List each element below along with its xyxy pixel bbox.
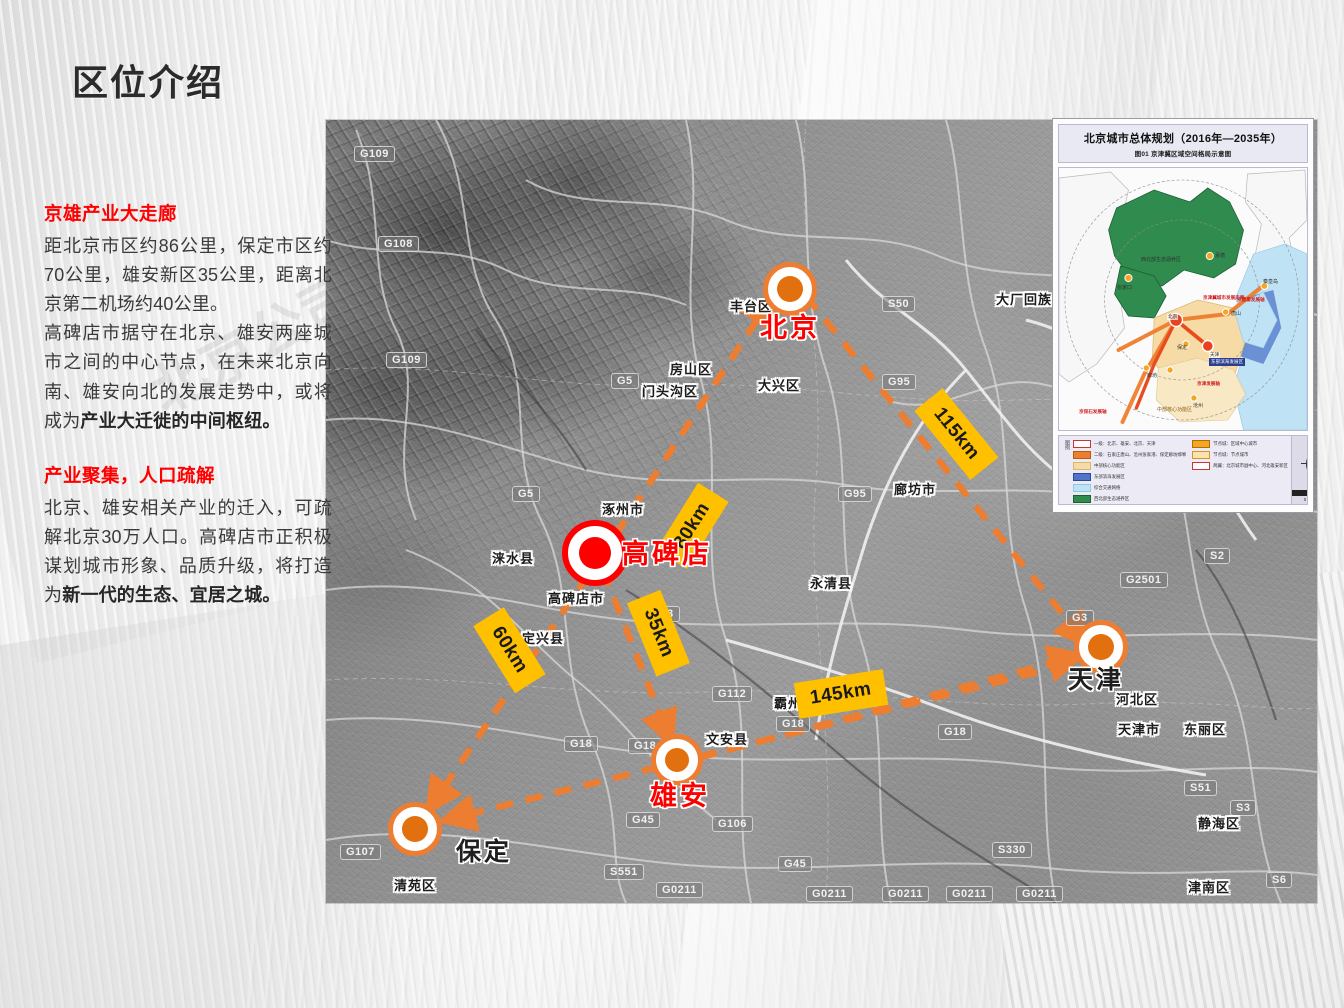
inset-planning-map[interactable]: 北京城市总体规划（2016年—2035年） 图01 京津冀区域空间格局示意图 bbox=[1052, 118, 1314, 513]
route-gaobeidian-baoding bbox=[430, 575, 588, 808]
place-label: 涿州市涿州市 bbox=[602, 496, 644, 515]
inset-city-label: 北京 bbox=[1167, 314, 1178, 320]
legend-row: 两翼：北京城市副中心、河北雄安新区 bbox=[1192, 462, 1288, 470]
inset-legend-items: 图例 一级：北京、雄安、北京、天津 二级：石家庄唐山、沧州张家港、保定廊坊邯郸 … bbox=[1059, 436, 1291, 504]
inset-city-label: 沧州 bbox=[1193, 402, 1203, 409]
inset-corridor-label: 京保石发展轴 bbox=[1077, 408, 1109, 416]
inset-city-label: 天津 bbox=[1209, 352, 1220, 358]
road-shield: G18 bbox=[776, 716, 810, 732]
legend-swatch bbox=[1073, 440, 1091, 448]
paragraph-emphasis: 产业大迁徙的中间枢纽。 bbox=[80, 411, 280, 431]
legend-swatch bbox=[1073, 484, 1091, 492]
legend-row: 一级：北京、雄安、北京、天津 bbox=[1073, 440, 1186, 448]
legend-text: 中部核心功能区 bbox=[1094, 463, 1125, 469]
description-section-industry: 产业聚集，人口疏解 北京、雄安相关产业的迁入，可疏解北京30万人口。高碑店市正积… bbox=[44, 462, 332, 610]
road-shield: G0211 bbox=[1016, 886, 1063, 902]
road-shield: G0211 bbox=[806, 886, 853, 902]
inset-map-body: 西北部生态涵养区 东部滨海发展区 中部核心功能区 北京 天津 承德 张家口 唐山… bbox=[1058, 167, 1308, 431]
section-heading-corridor: 京雄产业大走廊 bbox=[44, 200, 332, 228]
place-label: 廊坊市廊坊市 bbox=[894, 476, 936, 495]
legend-swatch bbox=[1073, 462, 1091, 470]
city-name-gaobeidian: 高碑店 bbox=[622, 532, 712, 571]
place-label: 涞水县涞水县 bbox=[492, 545, 534, 564]
city-name-beijing: 北京 bbox=[760, 306, 820, 345]
place-label: 永清县永清县 bbox=[810, 570, 852, 589]
road-shield: S330 bbox=[992, 842, 1032, 858]
legend-swatch bbox=[1192, 451, 1210, 459]
road-shield: G0211 bbox=[946, 886, 993, 902]
place-label: 门头沟区门头沟区 bbox=[642, 378, 698, 397]
legend-row: 节点城：节点城市 bbox=[1192, 451, 1288, 459]
compass-icon bbox=[1306, 448, 1308, 480]
road-shield: S2 bbox=[1204, 548, 1230, 564]
legend-text: 综合交通网络 bbox=[1094, 485, 1120, 491]
legend-swatch bbox=[1192, 440, 1210, 448]
inset-city-label: 唐山 bbox=[1231, 310, 1241, 317]
city-name-tianjin: 天津 bbox=[1068, 660, 1124, 696]
place-label: 清苑区清苑区 bbox=[394, 872, 436, 891]
inset-legend-title: 图例 bbox=[1062, 440, 1073, 500]
place-label: 定兴县定兴县 bbox=[522, 625, 564, 644]
legend-text: 二级：石家庄唐山、沧州张家港、保定廊坊邯郸 bbox=[1094, 452, 1186, 458]
road-shield: G18 bbox=[938, 724, 972, 740]
marker-dot bbox=[579, 537, 611, 569]
inset-legend: 图例 一级：北京、雄安、北京、天津 二级：石家庄唐山、沧州张家港、保定廊坊邯郸 … bbox=[1058, 435, 1308, 505]
inset-compass-scale: 北 比例尺 0 20 40 80 120公里 bbox=[1291, 436, 1308, 504]
marker-dot bbox=[402, 816, 428, 842]
scale-bar-group: 比例尺 0 20 40 80 120公里 bbox=[1292, 483, 1308, 503]
legend-row: 西北部生态涵养区 bbox=[1073, 495, 1186, 503]
legend-text: 西北部生态涵养区 bbox=[1094, 496, 1129, 502]
marker-gaobeidian[interactable] bbox=[562, 520, 628, 586]
legend-swatch bbox=[1073, 495, 1091, 503]
road-shield: G0211 bbox=[656, 882, 703, 898]
legend-row: 综合交通网络 bbox=[1073, 484, 1186, 492]
place-label: 大厂回族大厂回族 bbox=[996, 286, 1052, 305]
legend-row: 中部核心功能区 bbox=[1073, 462, 1186, 470]
legend-text: 两翼：北京城市副中心、河北雄安新区 bbox=[1213, 463, 1288, 469]
marker-baoding[interactable] bbox=[388, 802, 442, 856]
place-label: 东丽区东丽区 bbox=[1184, 716, 1226, 735]
legend-text: 节点城：区域中心城市 bbox=[1213, 441, 1257, 447]
description-column: 京雄产业大走廊 距北京市区约86公里，保定市区约70公里，雄安新区35公里，距离… bbox=[44, 200, 332, 636]
section-paragraph-main: 高碑店市据守在北京、雄安两座城市之间的中心节点，在未来北京向南、雄安向北的发展走… bbox=[44, 319, 332, 436]
road-shield: G109 bbox=[354, 146, 395, 162]
legend-text: 东部滨海发展区 bbox=[1094, 474, 1125, 480]
legend-text: 一级：北京、雄安、北京、天津 bbox=[1094, 441, 1155, 447]
description-section-corridor: 京雄产业大走廊 距北京市区约86公里，保定市区约70公里，雄安新区35公里，距离… bbox=[44, 200, 332, 436]
scale-bar bbox=[1292, 490, 1308, 496]
road-shield: G45 bbox=[778, 856, 812, 872]
road-shield: G5 bbox=[611, 373, 639, 389]
inset-corridor-label: 京唐秦发展轴 bbox=[1235, 296, 1267, 304]
road-shield: G5 bbox=[512, 486, 540, 502]
inset-city-label: 廊坊 bbox=[1147, 372, 1157, 379]
road-shield: G95 bbox=[838, 486, 872, 502]
road-shield: G109 bbox=[386, 352, 427, 368]
inset-corridor-label: 京津发展轴 bbox=[1195, 380, 1222, 388]
legend-row: 二级：石家庄唐山、沧州张家港、保定廊坊邯郸 bbox=[1073, 451, 1186, 459]
inset-region-label: 东部滨海发展区 bbox=[1209, 358, 1245, 366]
road-shield: G18 bbox=[564, 736, 598, 752]
inset-region-label: 中部核心功能区 bbox=[1157, 406, 1192, 413]
place-label: 高碑店市高碑店市 bbox=[548, 585, 604, 604]
legend-text: 节点城：节点城市 bbox=[1213, 452, 1248, 458]
place-label: 大兴区大兴区 bbox=[758, 372, 800, 391]
city-name-baoding: 保定 bbox=[456, 832, 512, 868]
road-shield: S51 bbox=[1184, 780, 1217, 796]
legend-row: 东部滨海发展区 bbox=[1073, 473, 1186, 481]
inset-region-label: 西北部生态涵养区 bbox=[1141, 256, 1181, 263]
city-name-xiongan: 雄安 bbox=[650, 774, 710, 813]
marker-dot bbox=[777, 276, 803, 302]
road-shield: S50 bbox=[882, 296, 915, 312]
inset-title: 北京城市总体规划（2016年—2035年） bbox=[1063, 130, 1303, 146]
scale-ticks: 0 20 40 80 120公里 bbox=[1304, 497, 1308, 503]
road-shield: S6 bbox=[1266, 872, 1292, 888]
place-label: 房山区房山区 bbox=[670, 356, 712, 375]
inset-header: 北京城市总体规划（2016年—2035年） 图01 京津冀区域空间格局示意图 bbox=[1058, 124, 1308, 163]
inset-city-label: 保定 bbox=[1177, 344, 1187, 351]
road-shield: G107 bbox=[340, 844, 381, 860]
marker-dot bbox=[1088, 634, 1114, 660]
road-shield: G0211 bbox=[882, 886, 929, 902]
road-shield: G45 bbox=[626, 812, 660, 828]
road-shield: G106 bbox=[712, 816, 753, 832]
road-shield: S551 bbox=[604, 864, 644, 880]
inset-city-label: 承德 bbox=[1215, 252, 1225, 259]
place-label: 天津市天津市 bbox=[1118, 716, 1160, 735]
paragraph-emphasis: 新一代的生态、宜居之城。 bbox=[62, 585, 280, 605]
page-title: 区位介绍 bbox=[72, 54, 224, 106]
section-paragraph-lead: 距北京市区约86公里，保定市区约70公里，雄安新区35公里，距离北京第二机场约4… bbox=[44, 232, 332, 319]
section-paragraph-industry: 北京、雄安相关产业的迁入，可疏解北京30万人口。高碑店市正积极谋划城市形象、品质… bbox=[44, 494, 332, 611]
marker-dot bbox=[665, 748, 689, 772]
inset-map-graphic bbox=[1059, 168, 1307, 430]
legend-swatch bbox=[1192, 462, 1210, 470]
legend-row: 节点城：区域中心城市 bbox=[1192, 440, 1288, 448]
legend-swatch bbox=[1073, 451, 1091, 459]
road-shield: G108 bbox=[378, 236, 419, 252]
road-shield: G2501 bbox=[1120, 572, 1168, 588]
inset-city-label: 张家口 bbox=[1117, 284, 1132, 291]
road-shield: G95 bbox=[882, 374, 916, 390]
legend-swatch bbox=[1073, 473, 1091, 481]
place-label: 静海区静海区 bbox=[1198, 810, 1240, 829]
section-heading-industry: 产业聚集，人口疏解 bbox=[44, 462, 332, 490]
inset-city-label: 秦皇岛 bbox=[1263, 278, 1278, 285]
inset-subtitle: 图01 京津冀区域空间格局示意图 bbox=[1063, 148, 1303, 158]
road-shield: G112 bbox=[712, 686, 752, 702]
place-label: 文安县文安县 bbox=[706, 726, 748, 745]
place-label: 津南区津南区 bbox=[1188, 874, 1230, 893]
